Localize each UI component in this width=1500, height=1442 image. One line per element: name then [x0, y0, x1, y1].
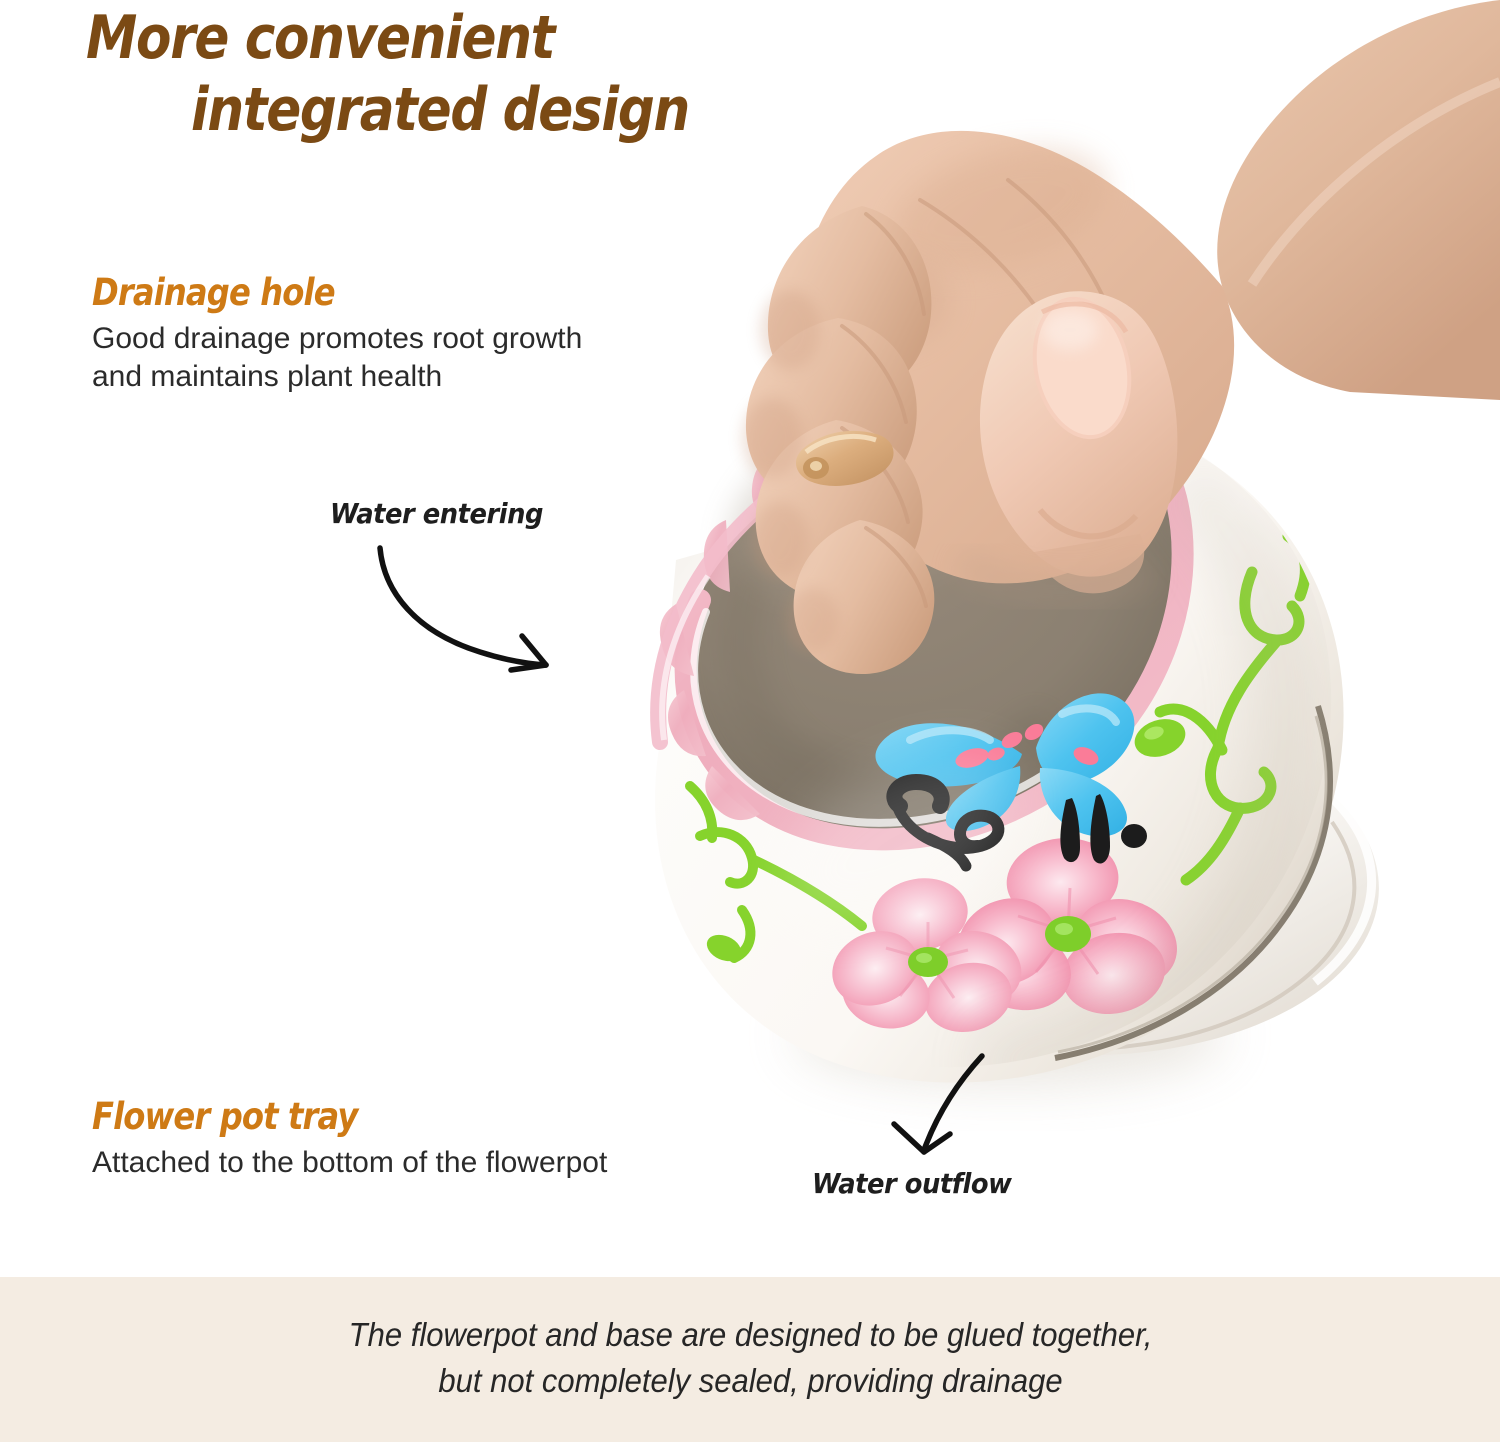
annotation-water-outflow: Water outflow	[812, 1168, 1029, 1200]
footer-note-text: The flowerpot and base are designed to b…	[348, 1312, 1152, 1408]
water-entering-arrow-icon	[370, 540, 580, 670]
callout-tray-title: Flower pot tray	[92, 1096, 701, 1138]
product-photo	[0, 0, 1500, 1280]
annotation-water-entering: Water entering	[330, 498, 562, 530]
footer-note-band: The flowerpot and base are designed to b…	[0, 1277, 1500, 1442]
water-outflow-arrow-icon	[880, 1050, 1010, 1170]
callout-drainage-body: Good drainage promotes root growth and m…	[92, 320, 732, 396]
callout-drainage-title: Drainage hole	[92, 272, 649, 314]
callout-tray-body: Attached to the bottom of the flowerpot	[92, 1144, 792, 1182]
water-entering-label: Water entering	[330, 498, 543, 530]
callout-flower-pot-tray: Flower pot tray Attached to the bottom o…	[92, 1096, 792, 1182]
callout-drainage-hole: Drainage hole Good drainage promotes roo…	[92, 272, 732, 396]
hand-holding-pot	[742, 0, 1500, 674]
infographic-page: More convenient integrated design Draina…	[0, 0, 1500, 1442]
water-outflow-label: Water outflow	[812, 1168, 1011, 1200]
